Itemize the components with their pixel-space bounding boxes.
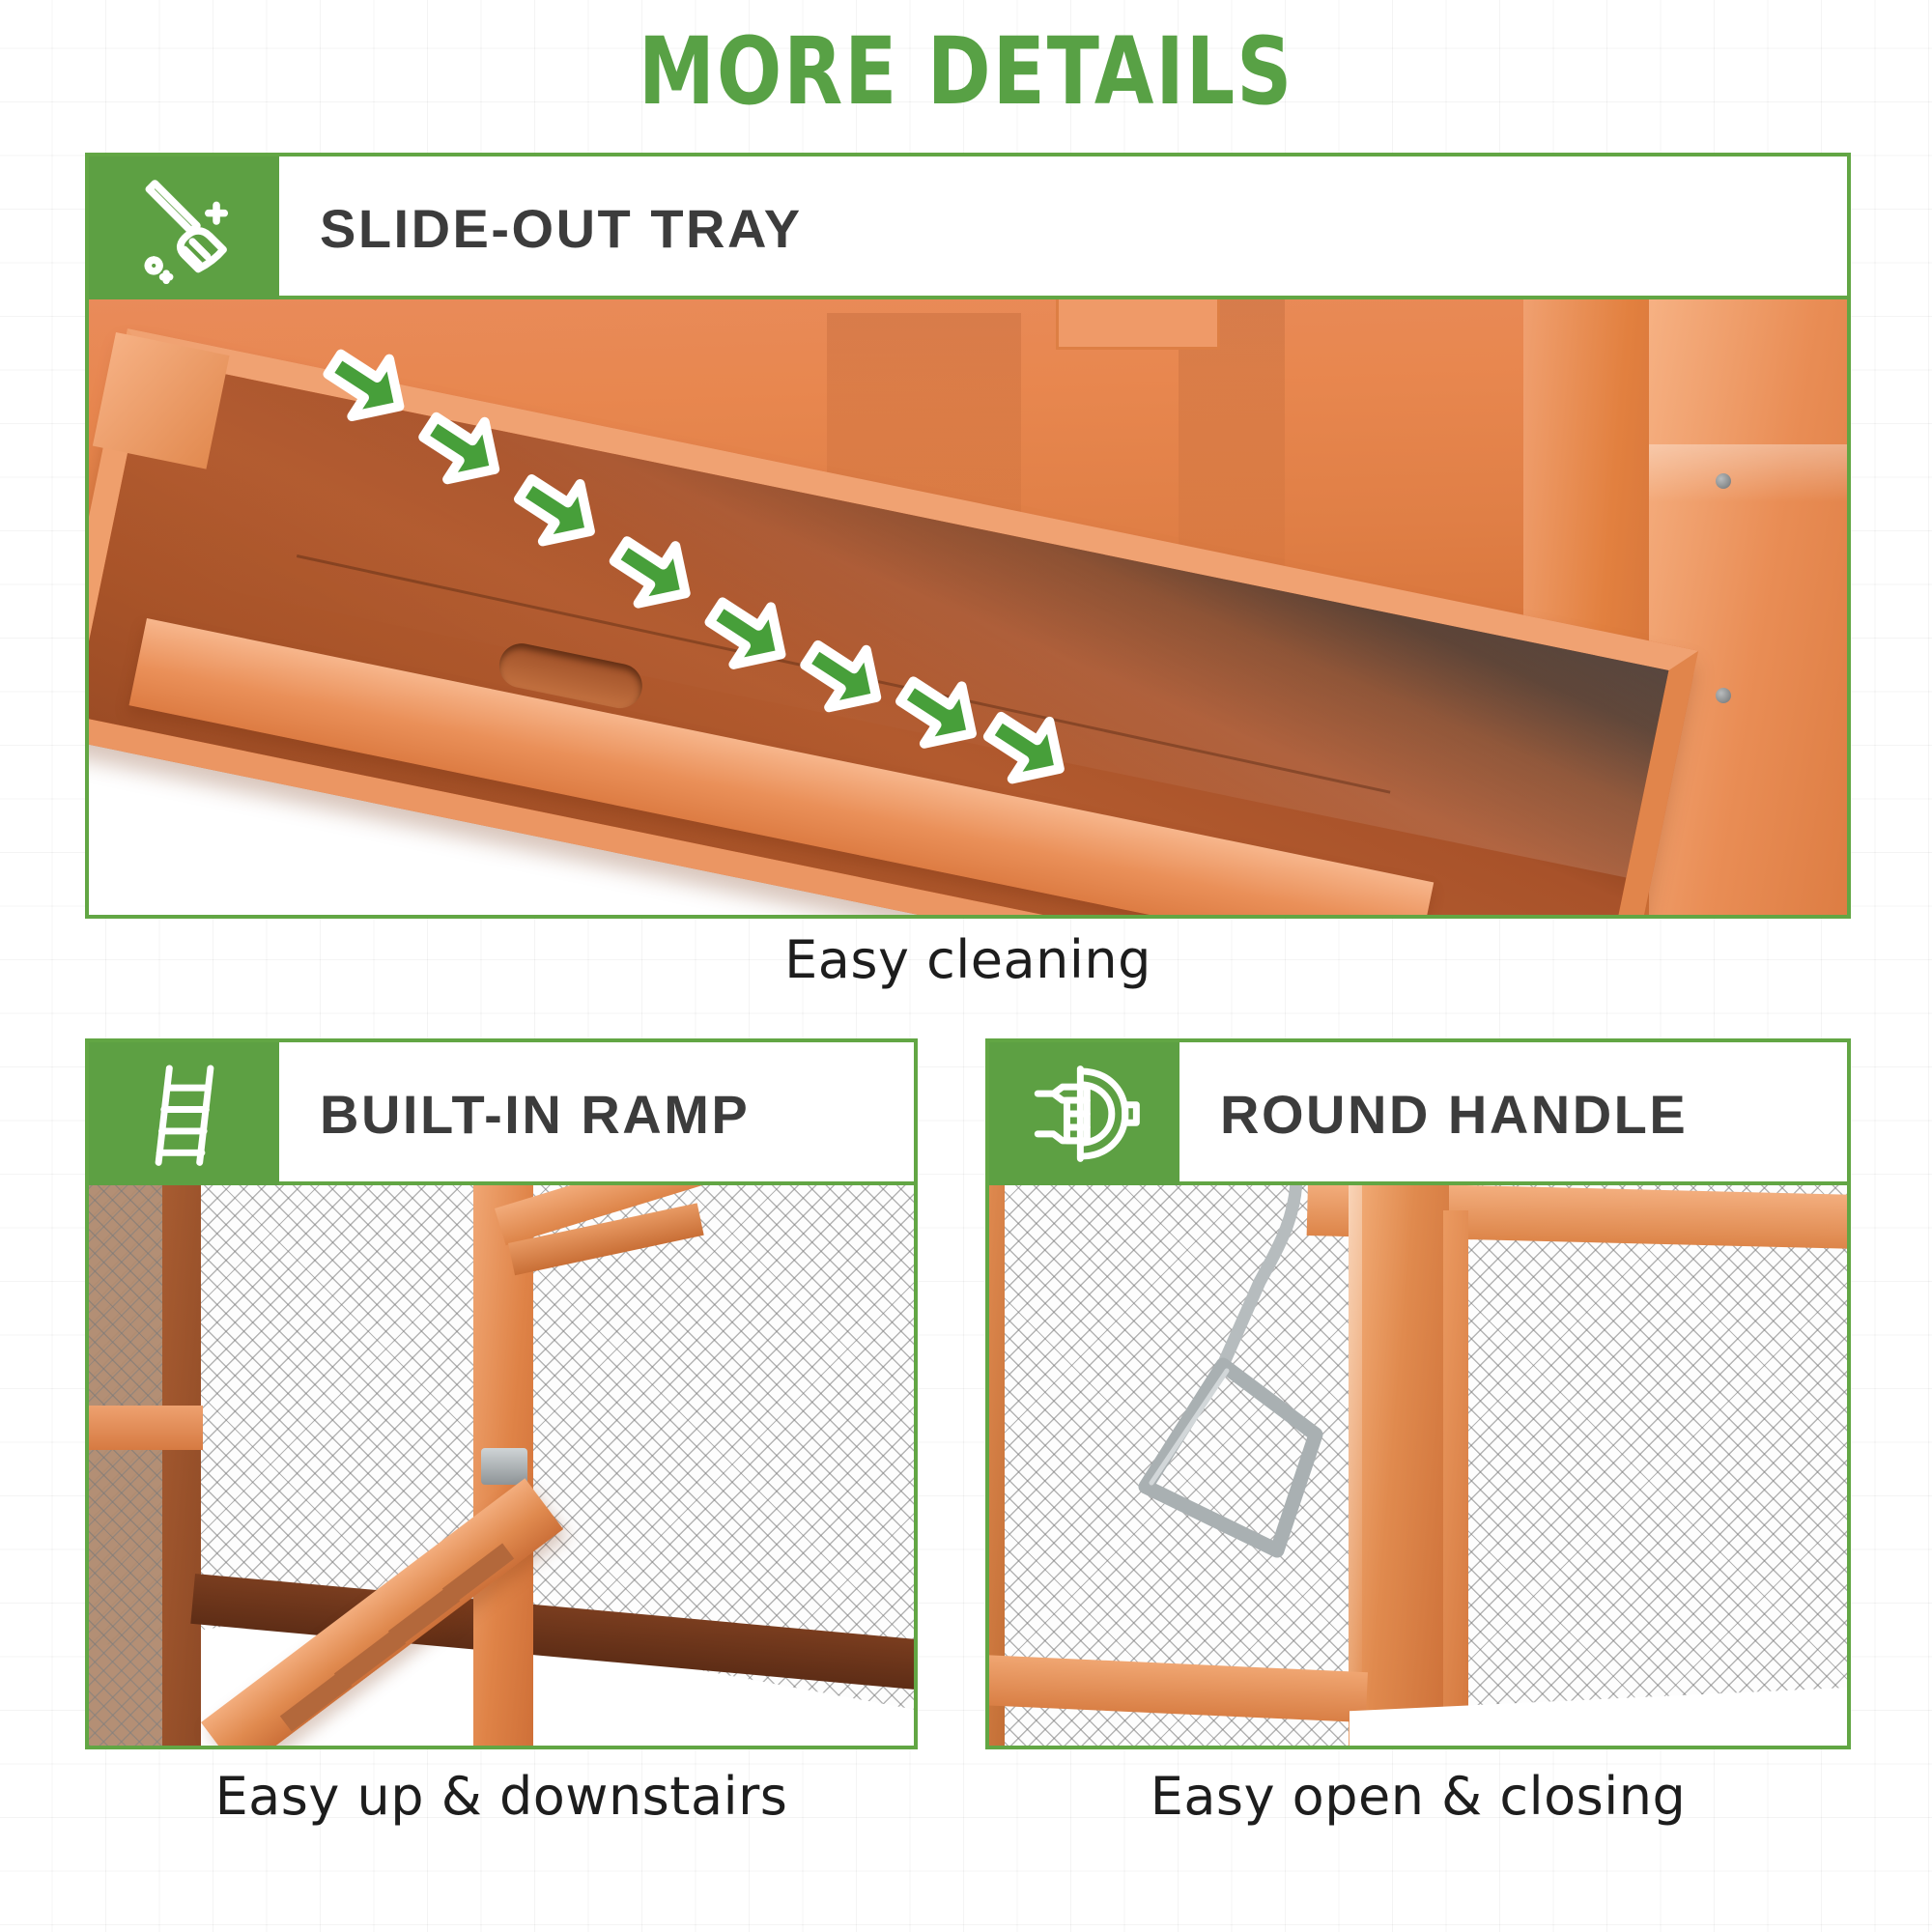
broom-sparkle-icon [128,171,241,285]
caption-round-handle: Easy open & closing [985,1766,1851,1827]
heading-divider [279,296,1847,299]
page-title: MORE DETAILS [77,17,1855,126]
ladder-icon [130,1060,239,1168]
icon-tab-round-handle [989,1042,1179,1185]
direction-arrows-overlay [89,299,1847,915]
card-heading-round-handle: ROUND HANDLE [1179,1042,1847,1185]
card-heading-label: BUILT-IN RAMP [320,1083,750,1146]
photo-round-handle [989,1185,1847,1746]
card-heading-slide-out-tray: SLIDE-OUT TRAY [279,156,1847,299]
caption-built-in-ramp: Easy up & downstairs [85,1766,918,1827]
photo-built-in-ramp [89,1185,914,1746]
icon-tab-slide-out-tray [89,156,279,299]
icon-tab-built-in-ramp [89,1042,279,1185]
caption-slide-out-tray: Easy cleaning [85,929,1851,990]
hand-grip-handle-icon [1029,1058,1141,1170]
detail-card-built-in-ramp: BUILT-IN RAMP [85,1038,918,1749]
card-heading-label: SLIDE-OUT TRAY [320,197,803,260]
heading-divider [279,1181,914,1185]
card-heading-built-in-ramp: BUILT-IN RAMP [279,1042,914,1185]
card-heading-label: ROUND HANDLE [1220,1083,1688,1146]
photo-slide-out-tray [89,299,1847,915]
detail-card-round-handle: ROUND HANDLE [985,1038,1851,1749]
round-wire-handle-icon[interactable] [1107,1185,1397,1581]
heading-divider [1179,1181,1847,1185]
detail-card-slide-out-tray: SLIDE-OUT TRAY [85,153,1851,919]
